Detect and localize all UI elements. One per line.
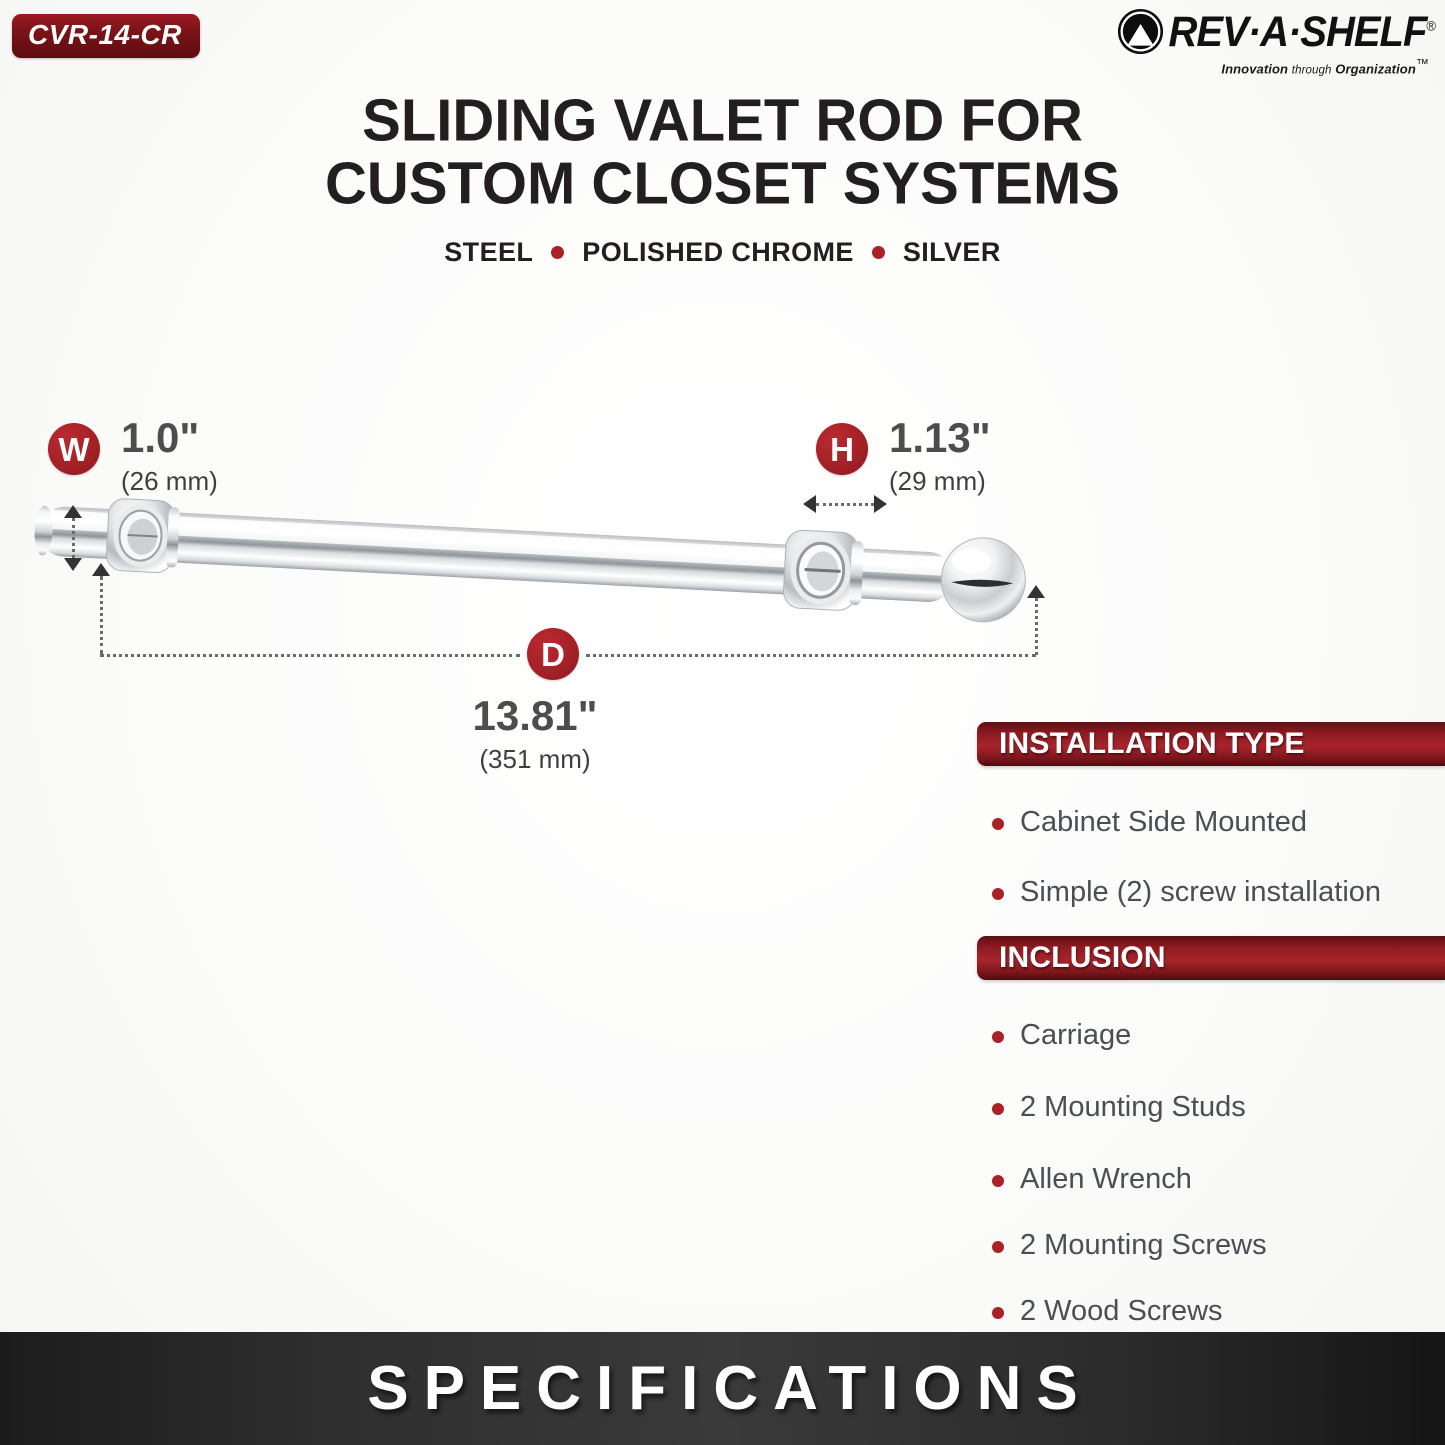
brand-row: REV·A·SHELF® — [1117, 8, 1435, 55]
title-line-1: SLIDING VALET ROD FOR — [0, 89, 1445, 153]
list-item: Carriage — [977, 1021, 1445, 1050]
tagline-tm-mark: ™ — [1416, 56, 1429, 71]
bullet-dot-icon — [992, 1307, 1004, 1319]
specifications-footer-text: SPECIFICATIONS — [352, 1358, 1093, 1420]
list-item: Simple (2) screw installation — [977, 878, 1445, 907]
list-item-label: Carriage — [1020, 1021, 1131, 1050]
spec-sheet-page: CVR-14-CR REV·A·SHELF® Innovation throug… — [0, 0, 1445, 1445]
tagline-word-1: Innovation — [1221, 61, 1288, 76]
subtitle-separator-dot-icon — [551, 246, 564, 259]
dimension-label-depth: 13.81" (351 mm) — [0, 695, 1070, 772]
brand-logo: REV·A·SHELF® Innovation through Organiza… — [1117, 8, 1435, 76]
inclusion-header-text: INCLUSION — [999, 943, 1166, 973]
list-item-label: Allen Wrench — [1020, 1165, 1192, 1194]
dimension-badge-depth: D — [527, 628, 579, 680]
list-item-label: Simple (2) screw installation — [1020, 878, 1381, 907]
depth-mm-value: (351 mm) — [0, 746, 1070, 772]
bullet-dot-icon — [992, 1103, 1004, 1115]
bullet-dot-icon — [992, 1175, 1004, 1187]
bullet-dot-icon — [992, 818, 1004, 830]
list-item: 2 Wood Screws — [977, 1297, 1445, 1326]
depth-inches-value: 13.81" — [0, 695, 1070, 737]
brand-wordmark: REV·A·SHELF® — [1169, 10, 1435, 52]
brand-name-text: REV·A·SHELF — [1169, 8, 1427, 55]
list-item-label: 2 Wood Screws — [1020, 1297, 1223, 1326]
width-mm-value: (26 mm) — [121, 468, 218, 494]
installation-type-panel: INSTALLATION TYPE Cabinet Side Mounted S… — [977, 722, 1445, 907]
installation-type-header-text: INSTALLATION TYPE — [999, 729, 1305, 759]
brand-registered-mark: ® — [1426, 17, 1435, 33]
bullet-dot-icon — [992, 888, 1004, 900]
dimension-label-height: 1.13" (29 mm) — [889, 417, 991, 494]
height-mm-value: (29 mm) — [889, 468, 991, 494]
width-inches-value: 1.0" — [121, 417, 218, 459]
bullet-dot-icon — [992, 1031, 1004, 1043]
list-item: 2 Mounting Studs — [977, 1093, 1445, 1122]
product-diagram: W 1.0" (26 mm) H 1.13" (29 mm) — [0, 390, 1070, 790]
height-inches-value: 1.13" — [889, 417, 991, 459]
inclusion-header: INCLUSION — [977, 936, 1445, 980]
subtitle-finish: POLISHED CHROME — [582, 237, 854, 268]
list-item-label: 2 Mounting Studs — [1020, 1093, 1246, 1122]
dimension-badge-width: W — [48, 423, 100, 475]
title-line-2: CUSTOM CLOSET SYSTEMS — [0, 152, 1445, 216]
subtitle-separator-dot-icon — [872, 246, 885, 259]
list-item: Cabinet Side Mounted — [977, 808, 1445, 837]
inclusion-panel: INCLUSION Carriage 2 Mounting Studs Alle… — [977, 936, 1445, 1326]
dimension-badge-height: H — [816, 423, 868, 475]
rev-a-shelf-mark-icon — [1117, 8, 1164, 55]
list-item-label: 2 Mounting Screws — [1020, 1231, 1267, 1260]
bullet-dot-icon — [992, 1241, 1004, 1253]
list-item-label: Cabinet Side Mounted — [1020, 808, 1307, 837]
subtitle-color: SILVER — [903, 237, 1001, 268]
page-title: SLIDING VALET ROD FOR CUSTOM CLOSET SYST… — [0, 90, 1445, 268]
inclusion-list: Carriage 2 Mounting Studs Allen Wrench 2… — [977, 1021, 1445, 1326]
sku-badge: CVR-14-CR — [12, 14, 200, 58]
tagline-word-3: Organization — [1335, 61, 1416, 76]
subtitle-material: STEEL — [444, 237, 533, 268]
brand-tagline: Innovation through Organization™ — [1221, 56, 1429, 76]
installation-type-list: Cabinet Side Mounted Simple (2) screw in… — [977, 808, 1445, 907]
product-subtitle: STEEL POLISHED CHROME SILVER — [0, 237, 1445, 268]
list-item: Allen Wrench — [977, 1165, 1445, 1194]
installation-type-header: INSTALLATION TYPE — [977, 722, 1445, 766]
specifications-footer: SPECIFICATIONS — [0, 1332, 1445, 1445]
dimension-label-width: 1.0" (26 mm) — [121, 417, 218, 494]
tagline-word-2: through — [1292, 64, 1332, 76]
list-item: 2 Mounting Screws — [977, 1231, 1445, 1260]
